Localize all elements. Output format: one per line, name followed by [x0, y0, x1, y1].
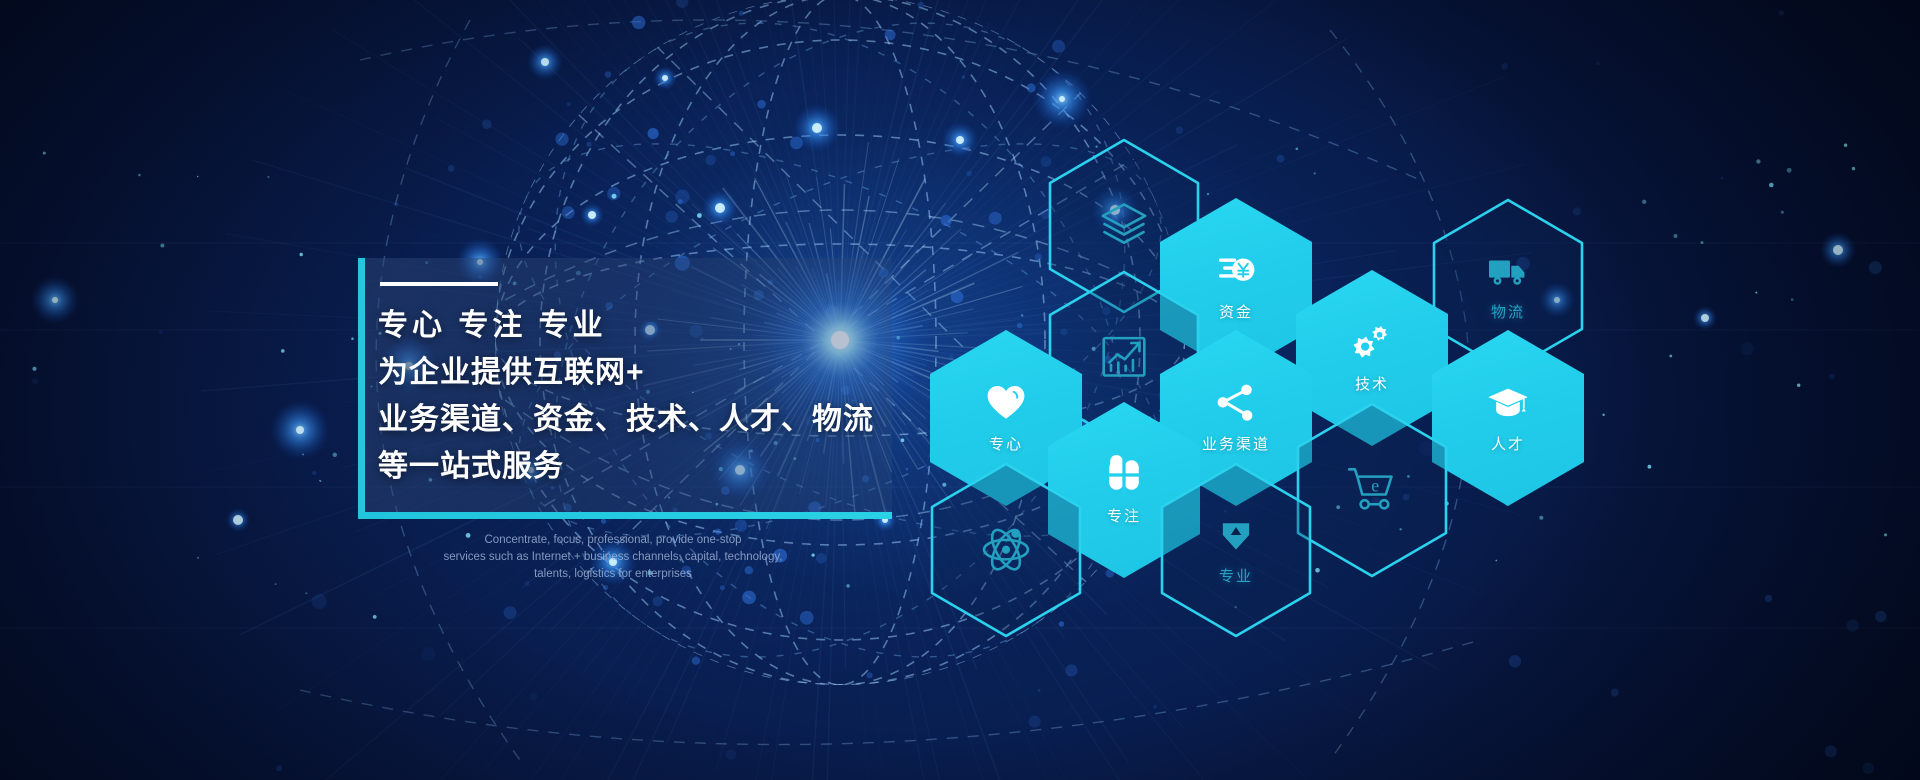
- hexagon-label: 人才: [1491, 433, 1525, 454]
- money-yen-icon: [1215, 250, 1257, 297]
- e-cart-icon: e: [1346, 462, 1398, 519]
- headline-line-3: 业务渠道、资金、技术、人才、物流: [378, 396, 898, 443]
- hexagon-ecart[interactable]: e: [1296, 402, 1448, 578]
- graduation-cap-icon: [1487, 382, 1529, 429]
- clover-icon: [1103, 454, 1145, 501]
- layers-icon: [1098, 198, 1150, 255]
- atom-icon: [980, 522, 1032, 579]
- hero-subtitle: Concentrate, focus, professional, provid…: [378, 532, 848, 583]
- headline-divider-dash: [380, 282, 498, 286]
- share-nodes-icon: [1215, 382, 1257, 429]
- hexagon-label: 资金: [1219, 301, 1253, 322]
- subtitle-line-2: services such as Internet + business cha…: [378, 549, 848, 566]
- gears-icon: [1351, 322, 1393, 369]
- hero-panel-underline: [358, 512, 892, 519]
- hero-headline-block: 专心 专注 专业 为企业提供互联网+ 业务渠道、资金、技术、人才、物流 等一站式…: [378, 268, 898, 490]
- subtitle-line-3: talents, logistics for enterprises: [378, 566, 848, 583]
- hero-banner: 专心 专注 专业 为企业提供互联网+ 业务渠道、资金、技术、人才、物流 等一站式…: [0, 0, 1920, 780]
- growth-chart-icon: [1098, 330, 1150, 387]
- hexagon-label: 技术: [1355, 373, 1389, 394]
- hexagon-label: 专业: [1219, 565, 1253, 586]
- hexagon-cluster: 资金物流技术专心业务渠道人才专注e专业: [0, 0, 1920, 780]
- subtitle-line-1: Concentrate, focus, professional, provid…: [378, 532, 848, 549]
- hexagon-talent[interactable]: 人才: [1432, 330, 1584, 506]
- heart-icon: [985, 382, 1027, 429]
- hexagon-label: 专注: [1107, 505, 1141, 526]
- headline-line-1: 专心 专注 专业: [378, 302, 898, 349]
- headline-line-4: 等一站式服务: [378, 443, 898, 490]
- hexagon-label: 专心: [989, 433, 1023, 454]
- headline-line-2: 为企业提供互联网+: [378, 349, 898, 396]
- diamond-icon: [1215, 514, 1257, 561]
- hexagon-label: 业务渠道: [1202, 433, 1270, 454]
- hexagon-label: 物流: [1491, 301, 1525, 322]
- truck-icon: [1487, 250, 1529, 297]
- svg-text:e: e: [1371, 475, 1379, 495]
